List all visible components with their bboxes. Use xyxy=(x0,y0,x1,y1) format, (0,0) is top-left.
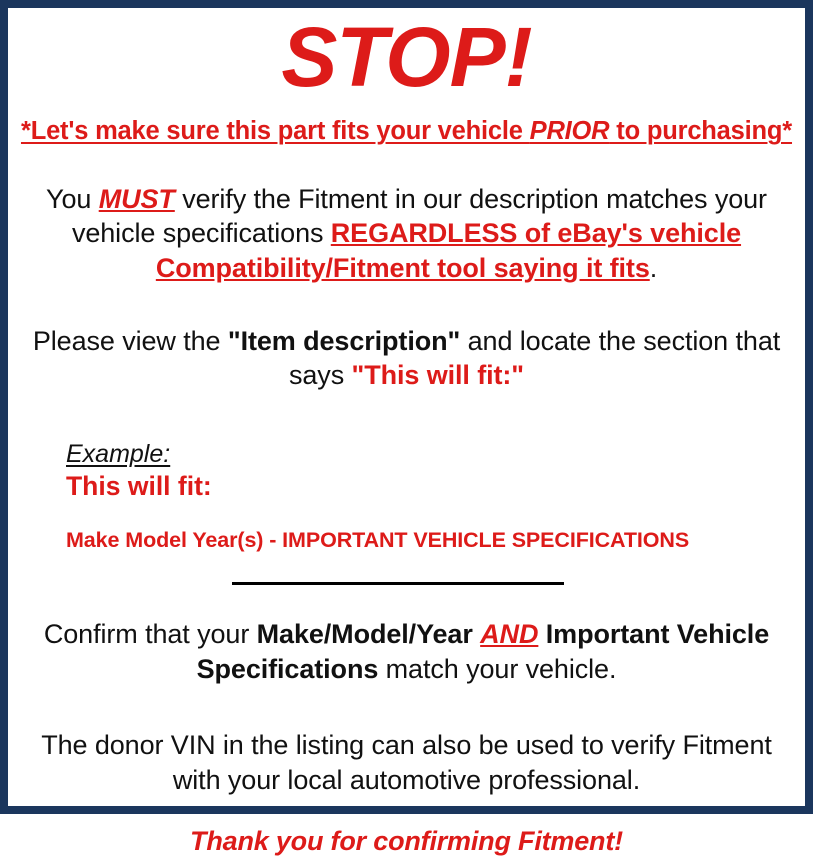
stop-heading: STOP! xyxy=(18,8,795,101)
tagline-underlined-run: *Let's make sure this part fits your veh… xyxy=(21,117,792,145)
example-label: Example: xyxy=(66,439,170,469)
paragraph-view-description: Please view the "Item description" and l… xyxy=(18,324,795,393)
must-seg-1: You xyxy=(46,184,99,214)
section-divider xyxy=(232,582,564,585)
emphasis-this-will-fit: "This will fit:" xyxy=(352,360,525,390)
tagline-banner: *Let's make sure this part fits your veh… xyxy=(18,117,795,146)
emphasis-make-model-year: Make/Model/Year xyxy=(257,619,473,649)
paragraph-donor-vin: The donor VIN in the listing can also be… xyxy=(18,728,795,797)
thanks-line: Thank you for confirming Fitment! xyxy=(18,825,795,857)
example-label-row: Example: xyxy=(66,439,795,469)
confirm-seg-2: match your vehicle. xyxy=(378,654,616,684)
must-seg-3: . xyxy=(650,253,657,283)
paragraph-must-verify: You MUST verify the Fitment in our descr… xyxy=(18,182,795,286)
confirm-seg-1: Confirm that your xyxy=(44,619,257,649)
tagline-text-before: *Let's make sure this part fits your veh… xyxy=(21,117,530,145)
tagline-emphasis-prior: PRIOR xyxy=(530,117,610,145)
emphasis-and: AND xyxy=(480,619,538,649)
emphasis-must: MUST xyxy=(99,184,175,214)
emphasis-item-description: "Item description" xyxy=(228,326,460,356)
paragraph-confirm: Confirm that your Make/Model/Year AND Im… xyxy=(18,617,795,686)
confirm-space-2 xyxy=(538,619,545,649)
example-will-fit-heading: This will fit: xyxy=(66,471,795,503)
example-block: Example: This will fit: Make Model Year(… xyxy=(18,439,795,555)
tagline-text-after: to purchasing* xyxy=(609,117,792,145)
view-seg-1: Please view the xyxy=(33,326,228,356)
example-spec-line: Make Model Year(s) - IMPORTANT VEHICLE S… xyxy=(66,528,795,554)
fitment-notice-card: STOP! *Let's make sure this part fits yo… xyxy=(0,0,813,814)
